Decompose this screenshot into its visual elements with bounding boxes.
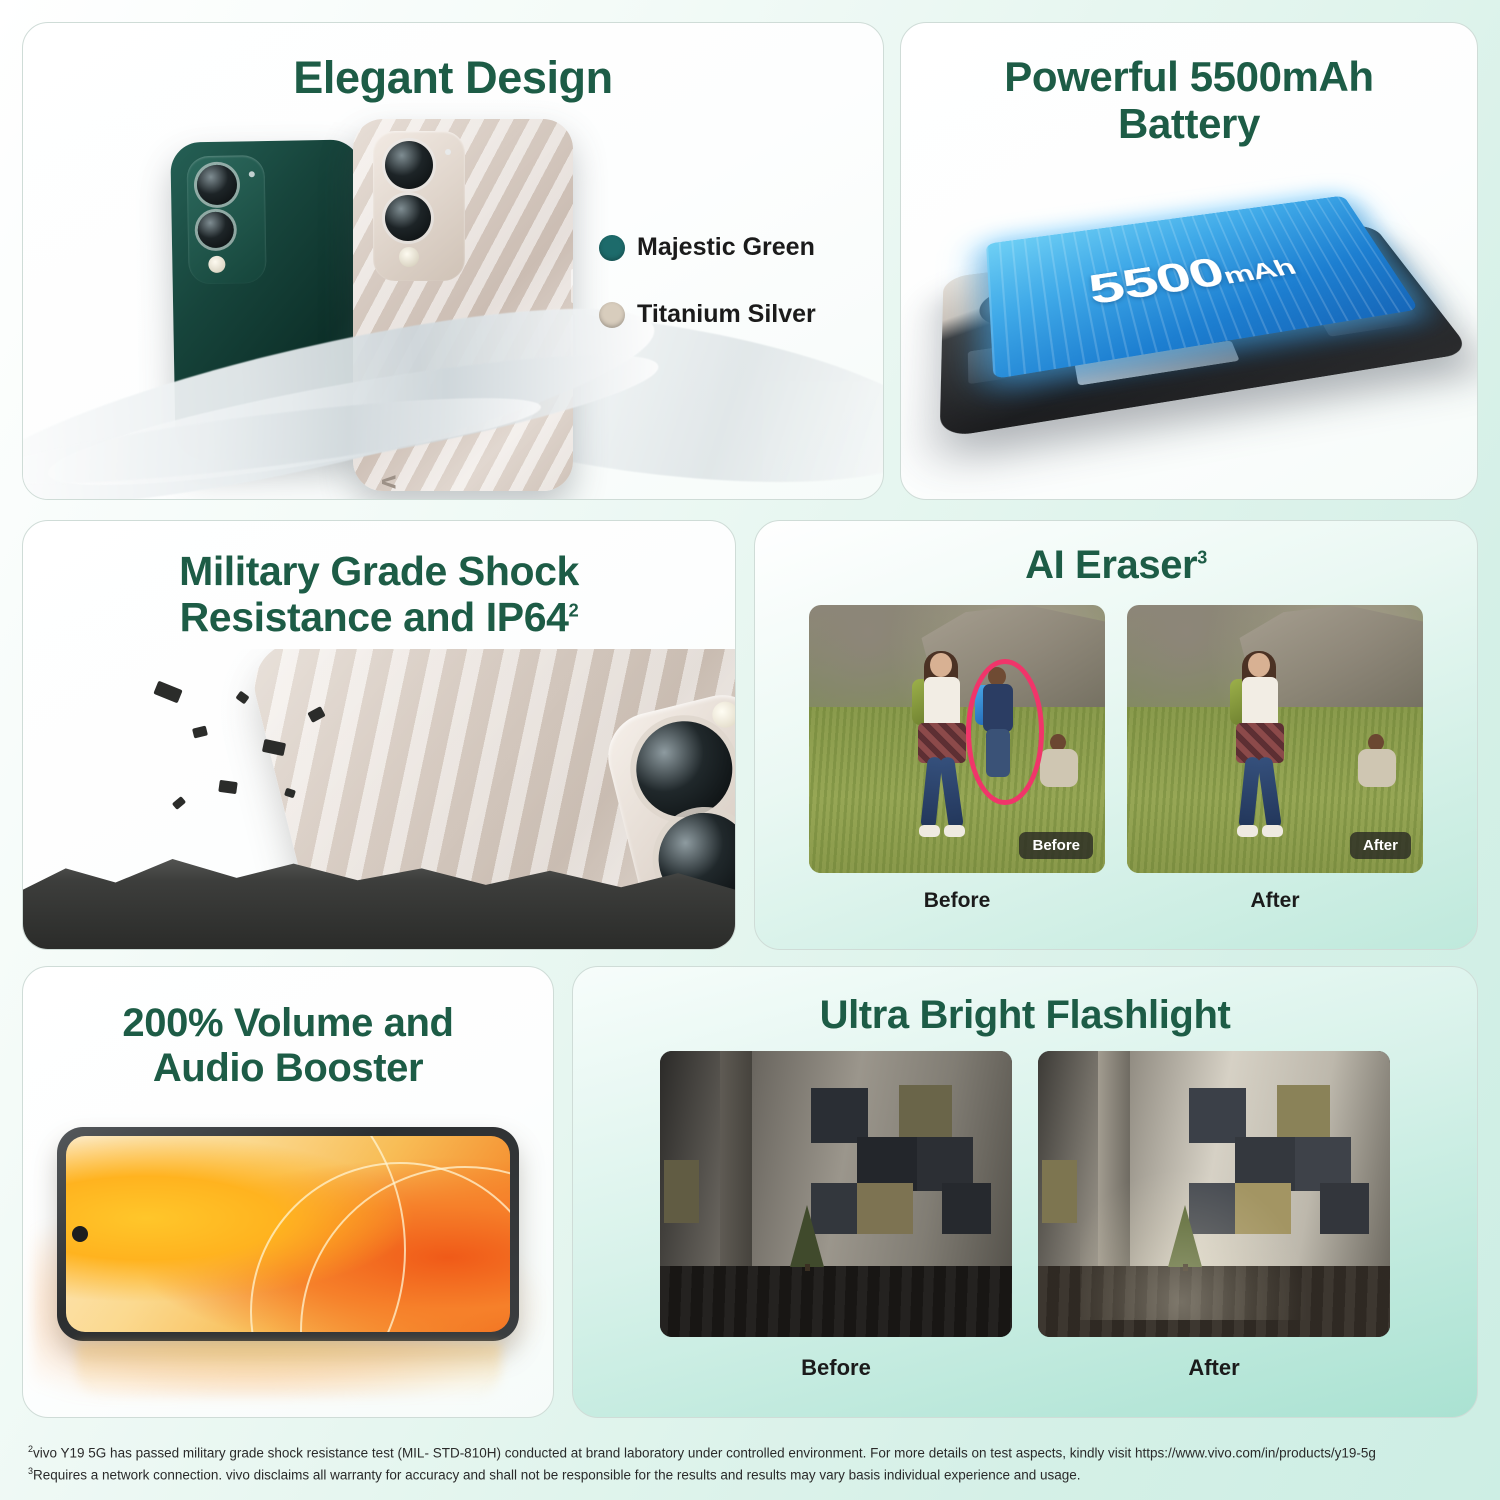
battery-title-line1: Powerful 5500mAh <box>1004 53 1373 100</box>
panel-flashlight: Ultra Bright Flashlight Before <box>572 966 1478 1418</box>
military-visual <box>23 649 735 950</box>
ai-eraser-title: AI Eraser3 <box>755 543 1477 588</box>
panel-audio-booster: 200% Volume and Audio Booster <box>22 966 554 1418</box>
battery-capacity-unit: mAh <box>1219 255 1299 289</box>
footnote-2-text: vivo Y19 5G has passed military grade sh… <box>33 1446 1376 1461</box>
vivo-logo: vivo <box>375 475 404 491</box>
phone-reflection <box>77 1343 501 1399</box>
room-floor <box>660 1266 1012 1338</box>
camera-flash-icon <box>208 256 225 273</box>
wall-panel <box>811 1088 867 1142</box>
wall-panel <box>1042 1160 1077 1223</box>
wall-panel <box>1320 1183 1369 1234</box>
debris-fragment <box>235 691 249 705</box>
audio-booster-title: 200% Volume and Audio Booster <box>23 1001 553 1091</box>
after-caption: After <box>1127 889 1423 913</box>
battery-capacity-label: 5500mAh <box>1085 240 1302 315</box>
wall-panel <box>899 1085 952 1139</box>
flashlight-after-photo <box>1038 1051 1390 1337</box>
debris-fragment <box>192 725 208 738</box>
footnotes: 2vivo Y19 5G has passed military grade s… <box>28 1442 1472 1487</box>
front-camera-notch-icon <box>72 1226 88 1242</box>
wall-panel <box>857 1183 913 1234</box>
footnote-2: 2vivo Y19 5G has passed military grade s… <box>28 1442 1472 1464</box>
camera-lens-icon <box>197 165 238 206</box>
ai-eraser-before-photo: Before <box>809 605 1105 873</box>
wall-panel <box>942 1183 991 1234</box>
before-caption: Before <box>809 889 1105 913</box>
military-title-superscript: 2 <box>569 599 579 620</box>
volume-button <box>571 269 573 303</box>
flashlight-beam <box>1080 1171 1305 1320</box>
camera-flash-icon <box>399 247 419 267</box>
debris-fragment <box>153 681 182 704</box>
debris-fragment <box>172 796 186 810</box>
color-legend: Majestic Green Titanium Silver <box>599 233 816 367</box>
eraser-highlight-ring <box>966 659 1044 805</box>
phone-screen <box>66 1136 510 1332</box>
after-caption: After <box>1038 1355 1390 1381</box>
debris-fragment <box>218 780 237 794</box>
military-title: Military Grade Shock Resistance and IP64… <box>23 549 735 641</box>
panel-elegant-design: Elegant Design vivo vivo <box>22 22 884 500</box>
panel-battery: Powerful 5500mAh Battery 5500mAh <box>900 22 1478 500</box>
before-caption: Before <box>660 1355 1012 1381</box>
flashlight-title: Ultra Bright Flashlight <box>573 993 1477 1038</box>
flashlight-before-column: Before <box>660 1051 1012 1381</box>
battery-capacity-value: 5500 <box>1085 250 1231 314</box>
elegant-design-visual: vivo vivo Majestic Green Titanium Sil <box>23 115 883 500</box>
battery-title-line2: Battery <box>1118 100 1260 147</box>
camera-flash-icon <box>710 699 735 731</box>
ai-eraser-before-column: Before Before <box>809 605 1105 913</box>
audio-booster-title-line2: Audio Booster <box>153 1046 423 1090</box>
camera-lens-icon <box>197 212 234 249</box>
color-swatch-majestic-green <box>599 235 625 261</box>
decorative-tree <box>790 1205 824 1271</box>
battery-visual: 5500mAh <box>901 163 1477 493</box>
color-swatch-titanium-silver <box>599 302 625 328</box>
after-badge: After <box>1350 832 1411 859</box>
flashlight-before-photo <box>660 1051 1012 1337</box>
main-subject-person <box>910 653 974 849</box>
ai-eraser-comparison: Before Before After After <box>755 605 1477 913</box>
room-pillar <box>720 1051 752 1268</box>
flashlight-comparison: Before After <box>573 1051 1477 1381</box>
military-title-line2: Resistance and IP64 <box>180 594 569 640</box>
ai-eraser-title-text: AI Eraser <box>1025 543 1197 587</box>
legend-label: Titanium Silver <box>637 300 816 329</box>
camera-module <box>373 131 465 281</box>
panel-military-grade: Military Grade Shock Resistance and IP64… <box>22 520 736 950</box>
microphone-dot-icon <box>445 149 451 155</box>
legend-item-majestic-green: Majestic Green <box>599 233 816 262</box>
seated-person <box>1352 734 1406 794</box>
legend-item-titanium-silver: Titanium Silver <box>599 300 816 329</box>
wall-panel <box>1189 1088 1245 1142</box>
wall-panel <box>1277 1085 1330 1139</box>
landscape-phone <box>57 1127 519 1341</box>
microphone-dot-icon <box>249 171 255 177</box>
ai-eraser-after-photo: After <box>1127 605 1423 873</box>
military-title-line1: Military Grade Shock <box>179 548 579 594</box>
audio-booster-visual <box>23 1117 553 1417</box>
legend-label: Majestic Green <box>637 233 815 262</box>
camera-lens-icon <box>626 711 735 827</box>
main-subject-person <box>1228 653 1292 849</box>
wall-panel <box>664 1160 699 1223</box>
audio-booster-title-line1: 200% Volume and <box>122 1001 453 1045</box>
camera-lens-icon <box>385 195 431 241</box>
footnote-3-text: Requires a network connection. vivo disc… <box>33 1468 1081 1483</box>
flashlight-after-column: After <box>1038 1051 1390 1381</box>
panel-ai-eraser: AI Eraser3 Before <box>754 520 1478 950</box>
ai-eraser-after-column: After After <box>1127 605 1423 913</box>
elegant-design-title: Elegant Design <box>23 53 883 103</box>
ai-eraser-title-superscript: 3 <box>1197 548 1207 568</box>
before-badge: Before <box>1019 832 1093 859</box>
footnote-3: 3Requires a network connection. vivo dis… <box>28 1464 1472 1486</box>
battery-title: Powerful 5500mAh Battery <box>901 53 1477 147</box>
camera-module <box>186 155 266 284</box>
camera-lens-icon <box>385 141 433 189</box>
